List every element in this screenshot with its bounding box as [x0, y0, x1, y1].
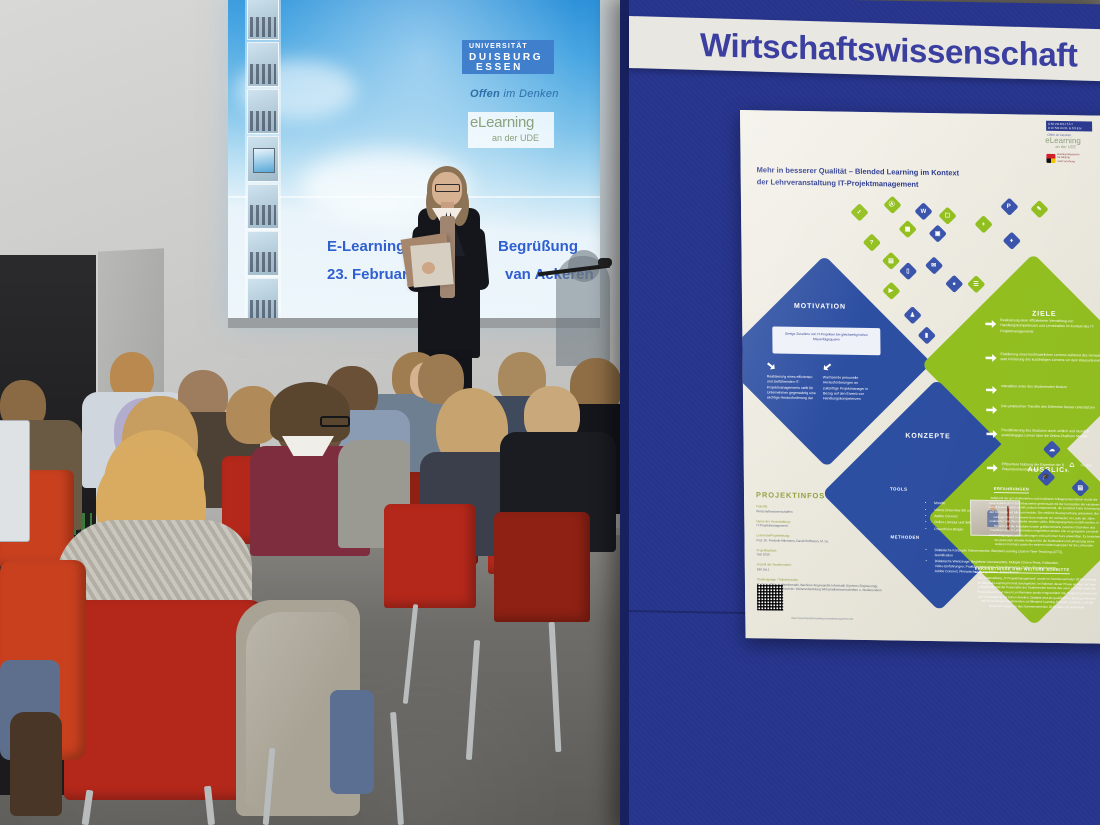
filmstrip-photo [247, 42, 279, 87]
chair [494, 512, 590, 622]
laptop-screen [0, 420, 30, 542]
eyeglasses-icon [320, 416, 350, 427]
research-poster: Mehr in besserer Qualität – Blended Lear… [740, 110, 1100, 644]
eyeglasses-icon [435, 184, 460, 192]
chair [384, 504, 476, 608]
audience-leg-jeans [330, 690, 374, 794]
microphone-icon [598, 258, 612, 267]
filmstrip-photo [247, 136, 279, 181]
poster-glare [740, 110, 1100, 644]
filmstrip-photo [247, 278, 279, 323]
filmstrip-photo [247, 184, 279, 229]
filmstrip-photo [247, 0, 279, 40]
elearning-logo-text: eLearning [470, 114, 534, 131]
presenter-hand [422, 262, 435, 274]
chair-foreground [64, 600, 264, 800]
ude-logo-line3: ESSEN [476, 62, 523, 73]
audience-hair [270, 382, 350, 442]
poster-board-edge [620, 0, 629, 825]
slide-horizon-line [228, 196, 600, 198]
ude-claim: Offen im Denken [470, 88, 559, 100]
screenshot-root: UNIVERSITÄT DUISBURG ESSEN Offen im Denk… [0, 0, 1100, 825]
screen-bottom-frame [228, 318, 600, 328]
elearning-logo-sub: an der UDE [492, 133, 539, 143]
audience-boot [10, 712, 62, 816]
filmstrip-photo [247, 89, 279, 134]
slide-title-right: Begrüßung [498, 238, 578, 255]
ude-logo-line1: UNIVERSITÄT [469, 43, 528, 50]
slide-filmstrip [245, 0, 281, 324]
filmstrip-photo [247, 231, 279, 276]
ude-claim-bold: Offen [470, 88, 500, 100]
ude-claim-rest: im Denken [503, 88, 558, 100]
